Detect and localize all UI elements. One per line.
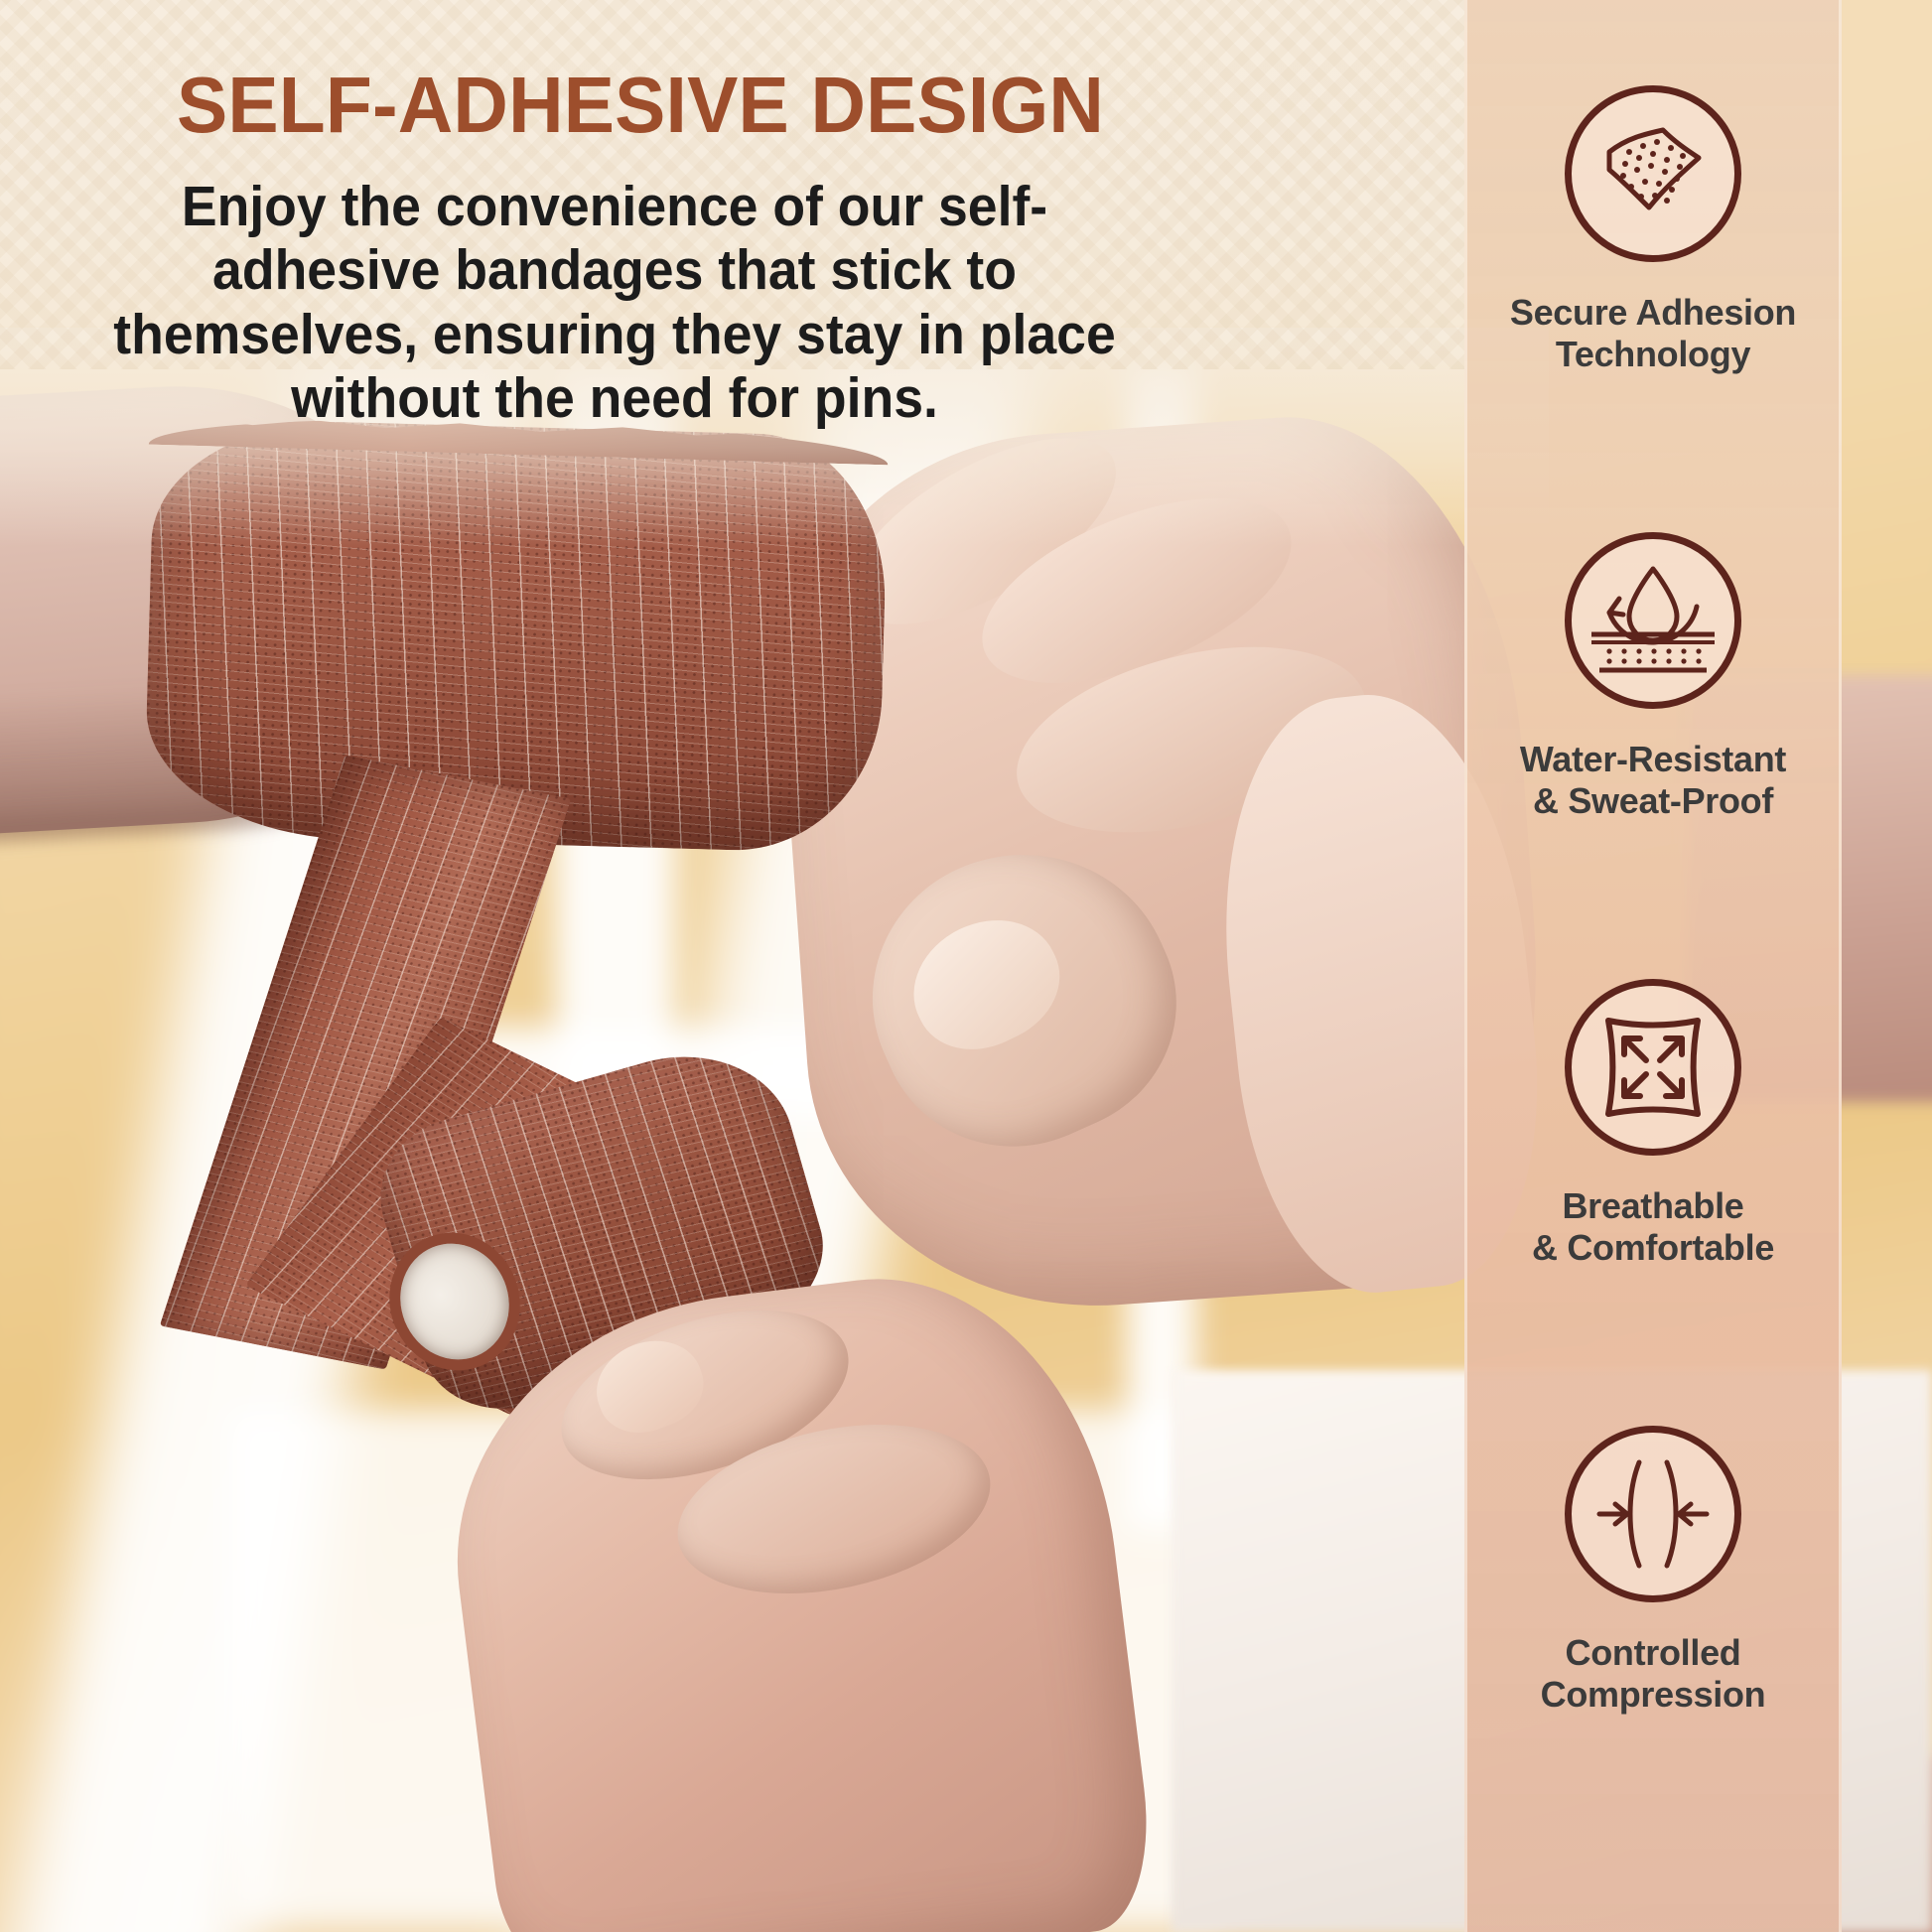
perforated-bandage-patch-icon: [1565, 85, 1741, 262]
feature-label: Secure Adhesion Technology: [1489, 292, 1817, 375]
feature-item-breathable[interactable]: Breathable & Comfortable: [1467, 979, 1839, 1426]
feature-sidebar: Secure Adhesion Technology: [1464, 0, 1842, 1932]
feature-label-line2: Compression: [1541, 1674, 1766, 1715]
feature-label-line1: Secure Adhesion: [1510, 292, 1796, 333]
infographic-canvas: SELF-ADHESIVE DESIGN Enjoy the convenien…: [0, 0, 1932, 1932]
feature-item-water-resistant[interactable]: Water-Resistant & Sweat-Proof: [1467, 532, 1839, 979]
water-droplet-repel-layer-icon: [1565, 532, 1741, 709]
headline-banner: SELF-ADHESIVE DESIGN Enjoy the convenien…: [0, 0, 1464, 369]
feature-label-line1: Water-Resistant: [1520, 739, 1786, 779]
feature-item-controlled-compression[interactable]: Controlled Compression: [1467, 1426, 1839, 1872]
feature-label-line1: Controlled: [1566, 1632, 1741, 1673]
feature-label: Controlled Compression: [1489, 1632, 1817, 1716]
feature-label-line2: Technology: [1556, 334, 1750, 374]
page-subtitle: Enjoy the convenience of our self-adhesi…: [93, 175, 1137, 431]
feature-label-line1: Breathable: [1562, 1185, 1743, 1226]
inward-compression-arrows-icon: [1565, 1426, 1741, 1602]
feature-label: Water-Resistant & Sweat-Proof: [1489, 739, 1817, 822]
square-four-outward-arrows-icon: [1565, 979, 1741, 1156]
feature-item-secure-adhesion[interactable]: Secure Adhesion Technology: [1467, 85, 1839, 532]
feature-label-line2: & Comfortable: [1532, 1227, 1774, 1268]
feature-label: Breathable & Comfortable: [1489, 1185, 1817, 1269]
page-title: SELF-ADHESIVE DESIGN: [26, 66, 1255, 145]
feature-label-line2: & Sweat-Proof: [1533, 780, 1773, 821]
